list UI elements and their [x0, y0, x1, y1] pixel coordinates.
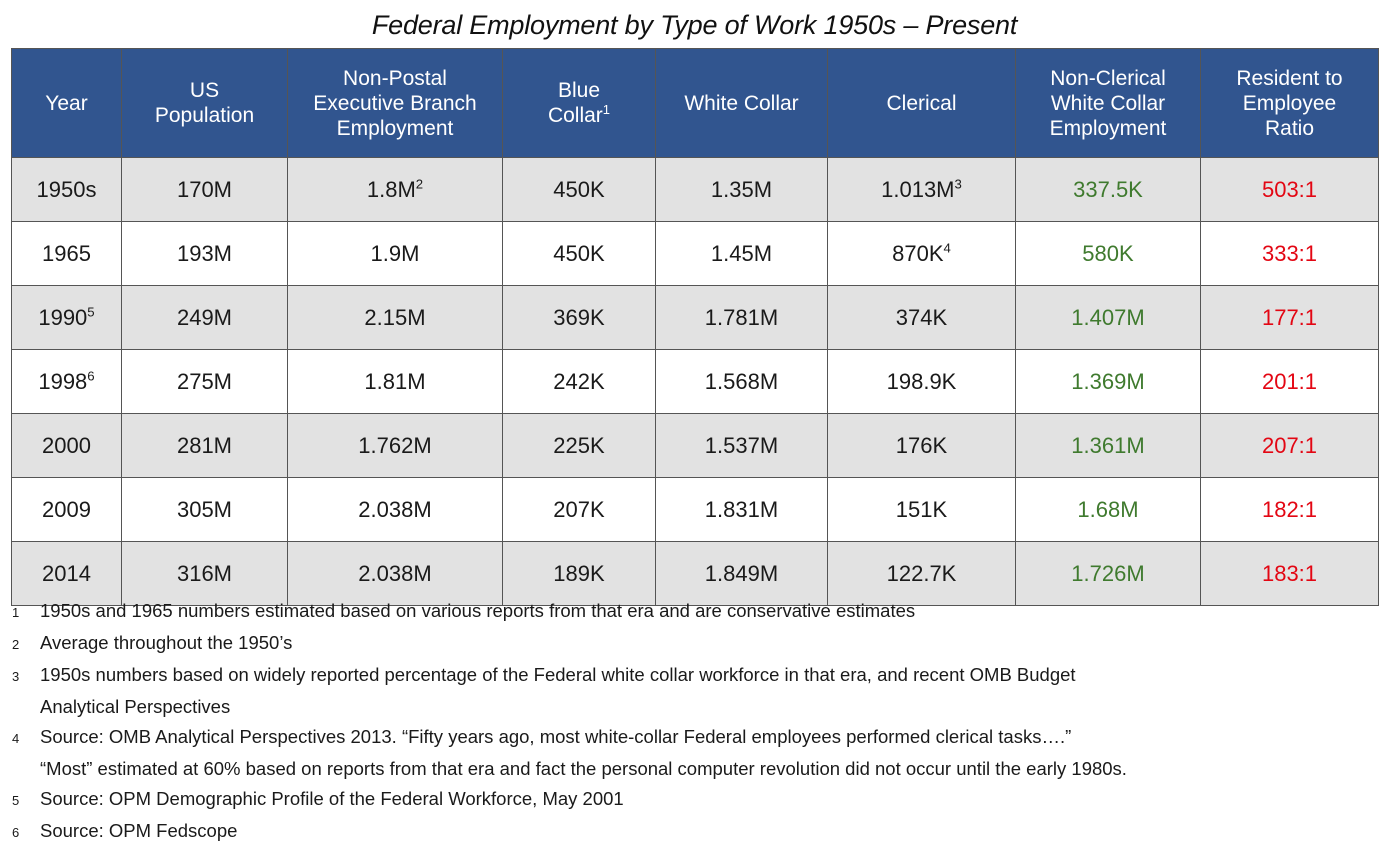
column-header-line: US [122, 78, 287, 103]
footnote-item: 5Source: OPM Demographic Profile of the … [0, 784, 1389, 816]
footnote-ref: 1 [603, 102, 610, 117]
footnote-ref: 3 [955, 176, 962, 191]
footnote-text-continuation: Analytical Perspectives [40, 692, 1389, 722]
cell-clerical: 374K [828, 286, 1016, 350]
cell-resident-to-employee-ratio: 177:1 [1201, 286, 1379, 350]
cell-year: 2000 [12, 414, 122, 478]
column-header-blue-collar: BlueCollar1 [503, 49, 656, 158]
cell-blue-collar: 369K [503, 286, 656, 350]
cell-resident-to-employee-ratio: 182:1 [1201, 478, 1379, 542]
cell-clerical: 151K [828, 478, 1016, 542]
cell-us-population: 193M [122, 222, 288, 286]
cell-resident-to-employee-ratio: 333:1 [1201, 222, 1379, 286]
column-header-line: Blue [503, 78, 655, 103]
cell-us-population: 170M [122, 158, 288, 222]
federal-employment-table: YearUSPopulationNon-PostalExecutive Bran… [11, 48, 1379, 606]
footnote-item: 11950s and 1965 numbers estimated based … [0, 596, 1389, 628]
cell-white-collar: 1.781M [656, 286, 828, 350]
cell-blue-collar: 207K [503, 478, 656, 542]
cell-non-clerical-white-collar: 1.361M [1016, 414, 1201, 478]
table-row: 1950s170M1.8M2450K1.35M1.013M3337.5K503:… [12, 158, 1379, 222]
column-header-line: Population [122, 103, 287, 128]
table-row: 19986275M1.81M242K1.568M198.9K1.369M201:… [12, 350, 1379, 414]
page-title: Federal Employment by Type of Work 1950s… [0, 0, 1389, 46]
cell-us-population: 249M [122, 286, 288, 350]
cell-blue-collar: 225K [503, 414, 656, 478]
table-header-row: YearUSPopulationNon-PostalExecutive Bran… [12, 49, 1379, 158]
cell-white-collar: 1.45M [656, 222, 828, 286]
footnote-text: Source: OMB Analytical Perspectives 2013… [40, 722, 1071, 752]
column-header-line: Non-Clerical [1016, 66, 1200, 91]
footnote-text: Average throughout the 1950’s [40, 628, 292, 658]
table-body: 1950s170M1.8M2450K1.35M1.013M3337.5K503:… [12, 158, 1379, 606]
footnote-text-wrap: Source: OPM Fedscope [40, 816, 237, 846]
footnote-text-wrap: 1950s numbers based on widely reported p… [40, 660, 1076, 690]
column-header-line: White Collar [656, 91, 827, 116]
cell-year: 19905 [12, 286, 122, 350]
footnote-marker: 1 [12, 596, 40, 628]
table-header: YearUSPopulationNon-PostalExecutive Bran… [12, 49, 1379, 158]
cell-exec-branch: 2.15M [288, 286, 503, 350]
table-row: 2009305M2.038M207K1.831M151K1.68M182:1 [12, 478, 1379, 542]
column-header-non-clerical-white-collar: Non-ClericalWhite CollarEmployment [1016, 49, 1201, 158]
column-header-line: Executive Branch [288, 91, 502, 116]
footnote-item: 6Source: OPM Fedscope [0, 816, 1389, 848]
cell-blue-collar: 242K [503, 350, 656, 414]
footnote-marker: 5 [12, 784, 40, 816]
footnote-ref: 5 [87, 304, 94, 319]
cell-year: 19986 [12, 350, 122, 414]
column-header-clerical: Clerical [828, 49, 1016, 158]
cell-resident-to-employee-ratio: 201:1 [1201, 350, 1379, 414]
footnote-marker: 4 [12, 722, 40, 754]
footnote-marker: 3 [12, 660, 40, 692]
footnote-text-continuation: “Most” estimated at 60% based on reports… [40, 754, 1389, 784]
cell-resident-to-employee-ratio: 207:1 [1201, 414, 1379, 478]
footnote-text: 1950s numbers based on widely reported p… [40, 660, 1076, 690]
cell-clerical: 870K4 [828, 222, 1016, 286]
footnote-item: 31950s numbers based on widely reported … [0, 660, 1389, 692]
cell-non-clerical-white-collar: 1.369M [1016, 350, 1201, 414]
cell-non-clerical-white-collar: 580K [1016, 222, 1201, 286]
cell-year: 1965 [12, 222, 122, 286]
cell-blue-collar: 450K [503, 158, 656, 222]
footnote-text-wrap: 1950s and 1965 numbers estimated based o… [40, 596, 915, 626]
cell-non-clerical-white-collar: 1.407M [1016, 286, 1201, 350]
table-row: 2000281M1.762M225K1.537M176K1.361M207:1 [12, 414, 1379, 478]
column-header-year: Year [12, 49, 122, 158]
footnote-text: Source: OPM Demographic Profile of the F… [40, 784, 624, 814]
footnote-text: 1950s and 1965 numbers estimated based o… [40, 596, 915, 626]
footnote-text-wrap: Average throughout the 1950’s [40, 628, 292, 658]
cell-exec-branch: 2.038M [288, 478, 503, 542]
footnote-ref: 2 [416, 176, 423, 191]
cell-white-collar: 1.537M [656, 414, 828, 478]
cell-year: 1950s [12, 158, 122, 222]
cell-us-population: 275M [122, 350, 288, 414]
cell-us-population: 281M [122, 414, 288, 478]
footnote-text-wrap: Source: OPM Demographic Profile of the F… [40, 784, 624, 814]
cell-white-collar: 1.568M [656, 350, 828, 414]
column-header-line: Clerical [828, 91, 1015, 116]
cell-white-collar: 1.35M [656, 158, 828, 222]
cell-exec-branch: 1.8M2 [288, 158, 503, 222]
cell-non-clerical-white-collar: 1.68M [1016, 478, 1201, 542]
column-header-line: Non-Postal [288, 66, 502, 91]
cell-resident-to-employee-ratio: 503:1 [1201, 158, 1379, 222]
column-header-line: Resident to [1201, 66, 1378, 91]
footnote-marker: 2 [12, 628, 40, 660]
column-header-line: Employment [1016, 116, 1200, 141]
column-header-us-population: USPopulation [122, 49, 288, 158]
cell-exec-branch: 1.81M [288, 350, 503, 414]
footnote-ref: 6 [87, 368, 94, 383]
footnote-item: 4Source: OMB Analytical Perspectives 201… [0, 722, 1389, 754]
federal-employment-table-container: YearUSPopulationNon-PostalExecutive Bran… [11, 48, 1378, 606]
cell-clerical: 176K [828, 414, 1016, 478]
column-header-line: Ratio [1201, 116, 1378, 141]
footnotes-list: 11950s and 1965 numbers estimated based … [0, 596, 1389, 848]
cell-blue-collar: 450K [503, 222, 656, 286]
footnote-text-wrap: Source: OMB Analytical Perspectives 2013… [40, 722, 1071, 752]
footnote-ref: 4 [944, 240, 951, 255]
cell-white-collar: 1.831M [656, 478, 828, 542]
table-row: 1965193M1.9M450K1.45M870K4580K333:1 [12, 222, 1379, 286]
column-header-exec-branch: Non-PostalExecutive BranchEmployment [288, 49, 503, 158]
column-header-line: Year [12, 91, 121, 116]
cell-us-population: 305M [122, 478, 288, 542]
cell-year: 2009 [12, 478, 122, 542]
column-header-line: Employee [1201, 91, 1378, 116]
column-header-line: White Collar [1016, 91, 1200, 116]
footnote-text: Source: OPM Fedscope [40, 816, 237, 846]
column-header-line: Collar1 [503, 103, 655, 128]
column-header-white-collar: White Collar [656, 49, 828, 158]
cell-clerical: 1.013M3 [828, 158, 1016, 222]
footnote-marker: 6 [12, 816, 40, 848]
table-row: 19905249M2.15M369K1.781M374K1.407M177:1 [12, 286, 1379, 350]
column-header-line: Employment [288, 116, 502, 141]
column-header-resident-to-employee-ratio: Resident toEmployeeRatio [1201, 49, 1379, 158]
cell-clerical: 198.9K [828, 350, 1016, 414]
cell-non-clerical-white-collar: 337.5K [1016, 158, 1201, 222]
cell-exec-branch: 1.9M [288, 222, 503, 286]
cell-exec-branch: 1.762M [288, 414, 503, 478]
footnote-item: 2Average throughout the 1950’s [0, 628, 1389, 660]
